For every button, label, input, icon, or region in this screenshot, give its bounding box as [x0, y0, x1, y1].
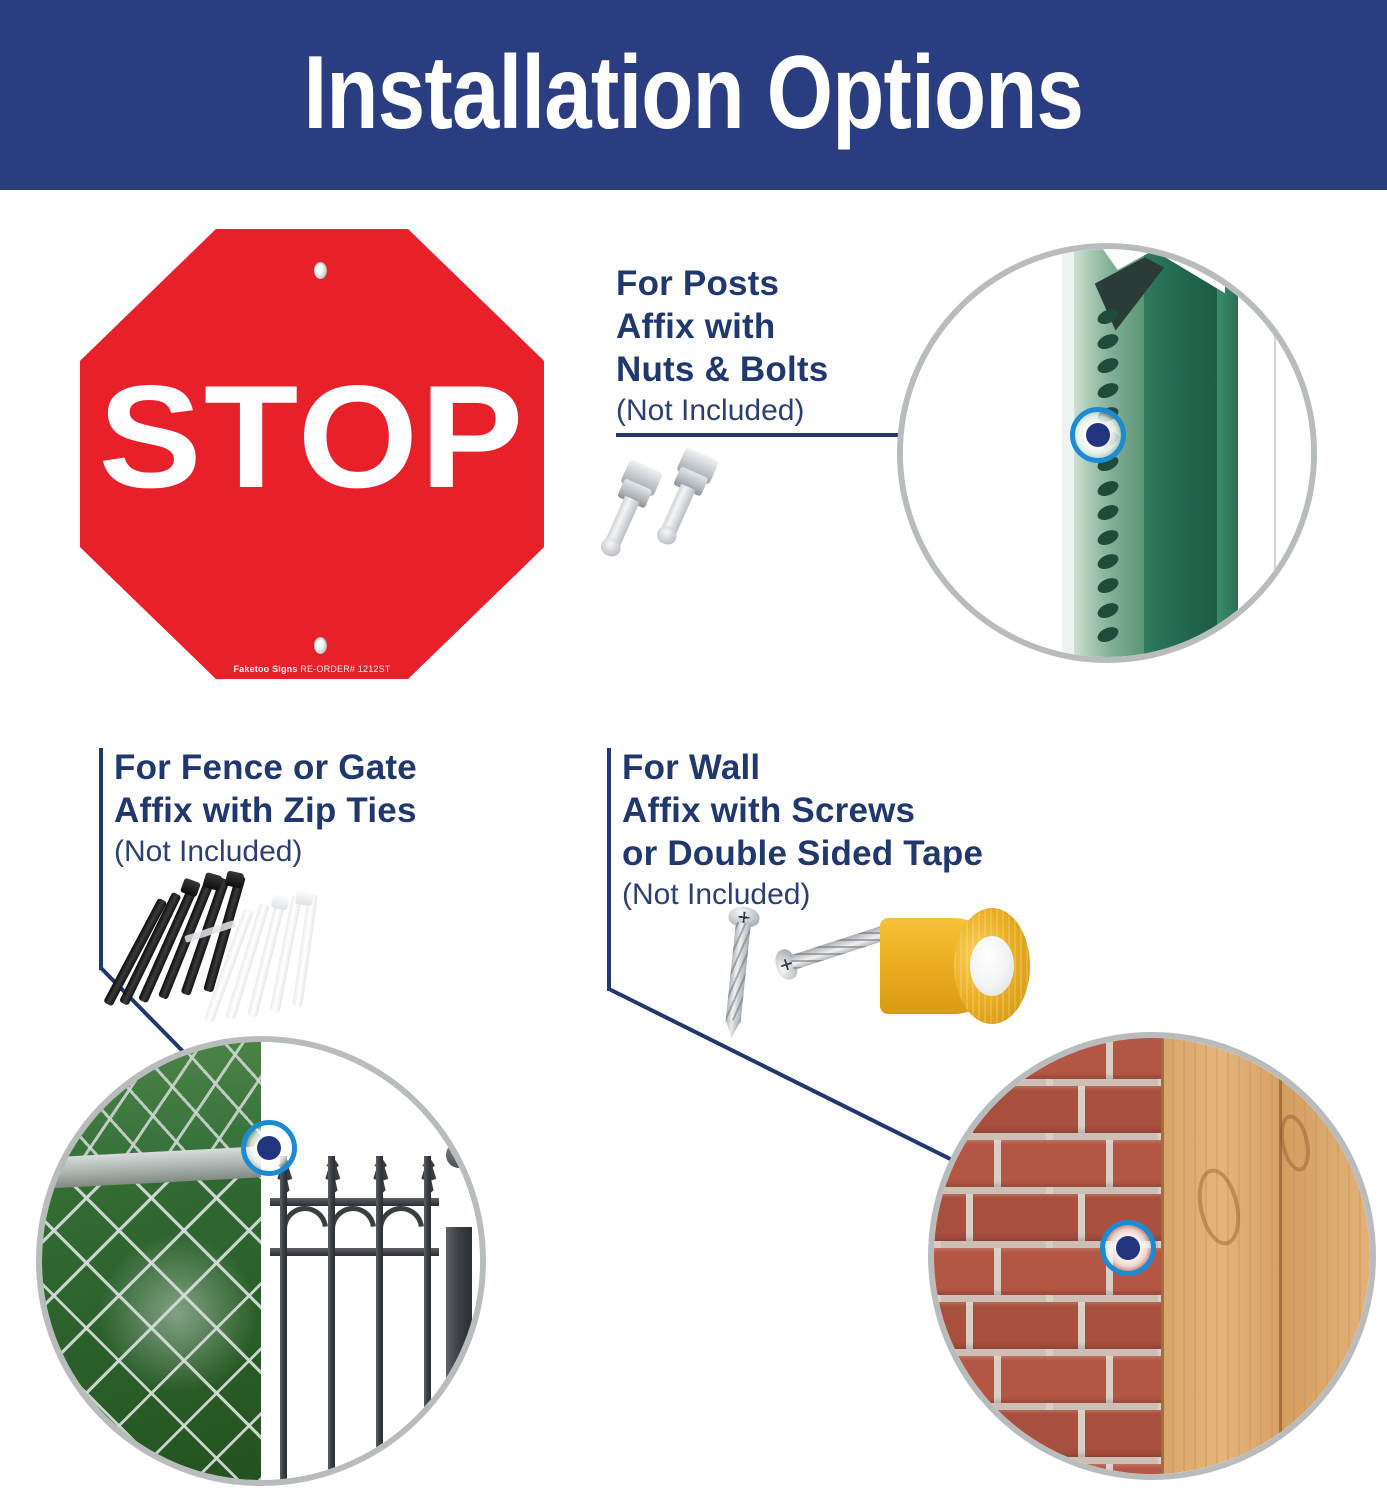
mounting-hole-top — [314, 262, 327, 279]
gate-post-ball-cap — [446, 1142, 472, 1168]
screw-shank — [789, 925, 889, 970]
fence-caption-bar — [99, 748, 103, 970]
gate-picket-3 — [376, 1156, 383, 1480]
zip-ties-icon — [148, 870, 398, 1010]
brick-course-3 — [934, 1140, 1161, 1187]
sign-brand: Faketoo Signs — [233, 664, 297, 674]
fence-gate-photo-circle — [36, 1036, 486, 1486]
chain-link-fence-image — [42, 1042, 261, 1480]
brick-course-6 — [934, 1302, 1161, 1349]
gate-panel — [270, 1156, 476, 1480]
gate-picket-2 — [328, 1156, 335, 1480]
page-title: Installation Options — [304, 34, 1084, 153]
brick-course-8 — [934, 1410, 1161, 1457]
fence-target-marker — [241, 1120, 297, 1176]
fence-caption: For Fence or Gate Affix with Zip Ties (N… — [114, 746, 417, 872]
sign-text: STOP — [47, 364, 577, 510]
posts-caption: For Posts Affix with Nuts & Bolts (Not I… — [616, 262, 828, 431]
gate-post — [446, 1227, 472, 1480]
iron-gate-image — [261, 1042, 480, 1480]
wall-title-line-3: or Double Sided Tape — [622, 832, 983, 875]
bolt-1 — [596, 461, 659, 559]
posts-title-line-3: Nuts & Bolts — [616, 348, 828, 391]
infographic-page: Installation Options STOP Faketoo Signs … — [0, 0, 1387, 1500]
brick-course-7 — [934, 1356, 1161, 1403]
gate-picket-1 — [280, 1156, 287, 1480]
header-banner: Installation Options — [0, 0, 1387, 186]
brick-course-2 — [934, 1086, 1161, 1133]
marker-dot — [1086, 423, 1110, 447]
wood-planks — [1161, 1038, 1370, 1474]
wall-title-line-1: For Wall — [622, 746, 983, 789]
post-background-edge — [1274, 273, 1303, 632]
posts-title-line-2: Affix with — [616, 305, 828, 348]
wall-caption-bar — [607, 748, 611, 991]
header-divider — [0, 186, 1387, 190]
marker-dot — [1116, 1236, 1140, 1260]
sign-fine-print: Faketoo Signs RE-ORDER# 1212ST — [62, 664, 562, 674]
zip-tie-head-3 — [225, 870, 245, 888]
marker-dot — [257, 1136, 281, 1160]
screws-icon — [730, 918, 900, 1028]
fence-title-line-2: Affix with Zip Ties — [114, 789, 417, 832]
brick-course-9 — [934, 1464, 1161, 1474]
post-flange-front — [1144, 243, 1217, 663]
stop-sign: STOP Faketoo Signs RE-ORDER# 1212ST — [62, 212, 582, 712]
zip-tie-white-head-2 — [295, 889, 314, 906]
bolt-2 — [652, 449, 715, 547]
zip-tie-white-head-1 — [271, 892, 291, 910]
posts-title-line-1: For Posts — [616, 262, 828, 305]
double-sided-tape-icon — [880, 908, 1030, 1024]
tape-core-hole — [970, 936, 1014, 996]
sign-reorder-code: RE-ORDER# 1212ST — [300, 664, 390, 674]
screw-point — [724, 1019, 741, 1038]
posts-target-marker — [1070, 407, 1126, 463]
wall-title-line-2: Affix with Screws — [622, 789, 983, 832]
fence-note: (Not Included) — [114, 832, 417, 872]
nuts-and-bolts-icon — [628, 452, 778, 562]
posts-note: (Not Included) — [616, 391, 828, 431]
wall-target-marker — [1100, 1220, 1156, 1276]
wood-panel-image — [1161, 1038, 1370, 1474]
wall-caption: For Wall Affix with Screws or Double Sid… — [622, 746, 983, 915]
screw-shank — [726, 922, 751, 1023]
brick-course-1 — [934, 1038, 1161, 1079]
post-flange-side — [1217, 257, 1237, 663]
mounting-hole-bottom — [314, 637, 327, 654]
fence-title-line-1: For Fence or Gate — [114, 746, 417, 789]
gate-picket-4 — [424, 1156, 431, 1480]
